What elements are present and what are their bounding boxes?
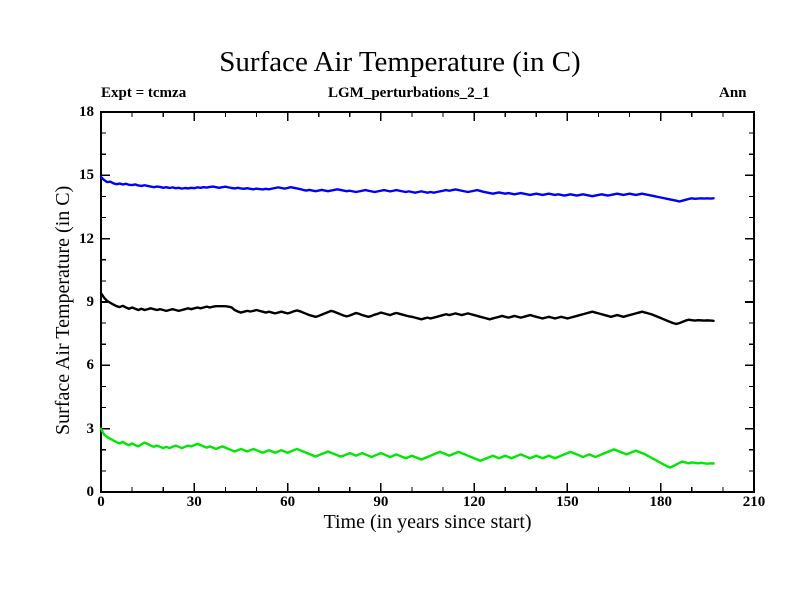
y-tick-label: 9 bbox=[64, 294, 94, 310]
x-tick-label: 210 bbox=[743, 494, 766, 510]
y-tick-label: 6 bbox=[64, 357, 94, 373]
x-tick-label: 0 bbox=[97, 494, 105, 510]
x-tick-label: 120 bbox=[463, 494, 486, 510]
x-axis-title: Time (in years since start) bbox=[101, 510, 754, 534]
y-tick-label: 18 bbox=[64, 104, 94, 120]
page-title: Surface Air Temperature (in C) bbox=[0, 46, 800, 78]
line-series_blue bbox=[101, 177, 714, 201]
axis-ticks bbox=[101, 112, 754, 492]
line-series_black bbox=[101, 293, 714, 324]
line-series_green bbox=[101, 429, 714, 468]
x-tick-label: 180 bbox=[649, 494, 672, 510]
y-tick-label: 3 bbox=[64, 421, 94, 437]
x-tick-label: 150 bbox=[556, 494, 579, 510]
chart-figure: Surface Air Temperature (in C) Expt = tc… bbox=[0, 0, 800, 600]
x-tick-label: 90 bbox=[373, 494, 388, 510]
data-series-group bbox=[101, 177, 714, 467]
y-tick-label: 12 bbox=[64, 231, 94, 247]
y-tick-label: 15 bbox=[64, 167, 94, 183]
experiment-label: Expt = tcmza bbox=[101, 84, 186, 102]
y-tick-label: 0 bbox=[64, 484, 94, 500]
run-name-label: LGM_perturbations_2_1 bbox=[328, 84, 490, 102]
period-label: Ann bbox=[719, 84, 747, 102]
y-axis-title: Surface Air Temperature (in C) bbox=[52, 186, 74, 435]
x-tick-label: 30 bbox=[187, 494, 202, 510]
x-tick-label: 60 bbox=[280, 494, 295, 510]
plot-frame bbox=[101, 112, 754, 492]
